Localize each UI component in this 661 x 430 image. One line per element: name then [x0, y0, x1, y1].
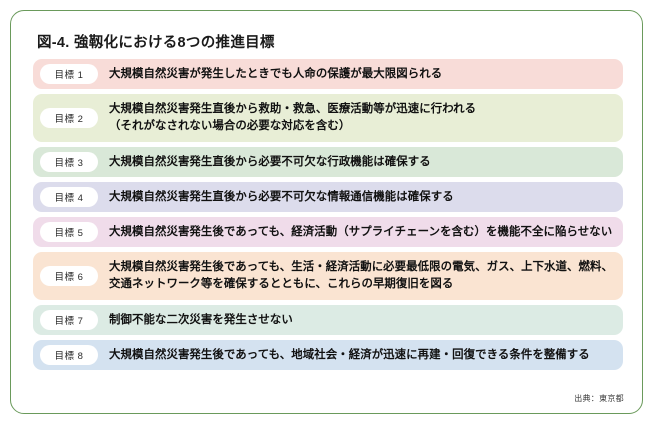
goal-text: 大規模自然災害が発生したときでも人命の保護が最大限図られる — [109, 66, 615, 83]
goal-row: 目標 3大規模自然災害発生直後から必要不可欠な行政機能は確保する — [33, 147, 623, 177]
goal-row: 目標 1大規模自然災害が発生したときでも人命の保護が最大限図られる — [33, 59, 623, 89]
goal-text: 大規模自然災害発生直後から必要不可欠な行政機能は確保する — [109, 154, 615, 171]
goal-label-badge: 目標 1 — [40, 64, 98, 84]
goal-text-line: 大規模自然災害が発生したときでも人命の保護が最大限図られる — [109, 68, 442, 80]
figure-card: 図-4. 強靱化における8つの推進目標 目標 1大規模自然災害が発生したときでも… — [10, 10, 643, 414]
goal-text: 大規模自然災害発生直後から救助・救急、医療活動等が迅速に行われる（それがなされな… — [109, 101, 615, 135]
goal-label-badge: 目標 8 — [40, 345, 98, 365]
goal-text: 大規模自然災害発生直後から必要不可欠な情報通信機能は確保する — [109, 189, 615, 206]
goal-label-badge: 目標 6 — [40, 266, 98, 286]
goal-label-badge: 目標 7 — [40, 310, 98, 330]
goal-label-badge: 目標 5 — [40, 222, 98, 242]
goal-row: 目標 6大規模自然災害発生後であっても、生活・経済活動に必要最低限の電気、ガス、… — [33, 252, 623, 300]
goal-text-line: 大規模自然災害発生後であっても、経済活動（サプライチェーンを含む）を機能不全に陥… — [109, 226, 612, 238]
goal-row: 目標 4大規模自然災害発生直後から必要不可欠な情報通信機能は確保する — [33, 182, 623, 212]
goal-label-badge: 目標 2 — [40, 108, 98, 128]
goal-row: 目標 7制御不能な二次災害を発生させない — [33, 305, 623, 335]
goal-text-line: 大規模自然災害発生後であっても、地域社会・経済が迅速に再建・回復できる条件を整備… — [109, 349, 590, 361]
goal-text-line: 交通ネットワーク等を確保するとともに、これらの早期復旧を図る — [109, 276, 615, 293]
goal-label-badge: 目標 3 — [40, 152, 98, 172]
goal-text-line: 大規模自然災害発生直後から必要不可欠な情報通信機能は確保する — [109, 191, 454, 203]
goal-label-badge: 目標 4 — [40, 187, 98, 207]
goal-text: 制御不能な二次災害を発生させない — [109, 312, 615, 329]
goal-list: 目標 1大規模自然災害が発生したときでも人命の保護が最大限図られる目標 2大規模… — [33, 59, 623, 375]
goal-row: 目標 2大規模自然災害発生直後から救助・救急、医療活動等が迅速に行われる（それが… — [33, 94, 623, 142]
goal-text-line: （それがなされない場合の必要な対応を含む） — [109, 118, 615, 135]
figure-title: 図-4. 強靱化における8つの推進目標 — [37, 31, 275, 52]
goal-row: 目標 8大規模自然災害発生後であっても、地域社会・経済が迅速に再建・回復できる条… — [33, 340, 623, 370]
goal-text-line: 大規模自然災害発生直後から必要不可欠な行政機能は確保する — [109, 156, 431, 168]
goal-row: 目標 5大規模自然災害発生後であっても、経済活動（サプライチェーンを含む）を機能… — [33, 217, 623, 247]
goal-text-line: 大規模自然災害発生直後から救助・救急、医療活動等が迅速に行われる — [109, 103, 476, 115]
goal-text: 大規模自然災害発生後であっても、生活・経済活動に必要最低限の電気、ガス、上下水道… — [109, 259, 615, 293]
goal-text: 大規模自然災害発生後であっても、経済活動（サプライチェーンを含む）を機能不全に陥… — [109, 224, 615, 241]
source-note: 出典：東京都 — [574, 393, 624, 404]
goal-text: 大規模自然災害発生後であっても、地域社会・経済が迅速に再建・回復できる条件を整備… — [109, 347, 615, 364]
goal-text-line: 大規模自然災害発生後であっても、生活・経済活動に必要最低限の電気、ガス、上下水道… — [109, 261, 613, 273]
goal-text-line: 制御不能な二次災害を発生させない — [109, 314, 293, 326]
